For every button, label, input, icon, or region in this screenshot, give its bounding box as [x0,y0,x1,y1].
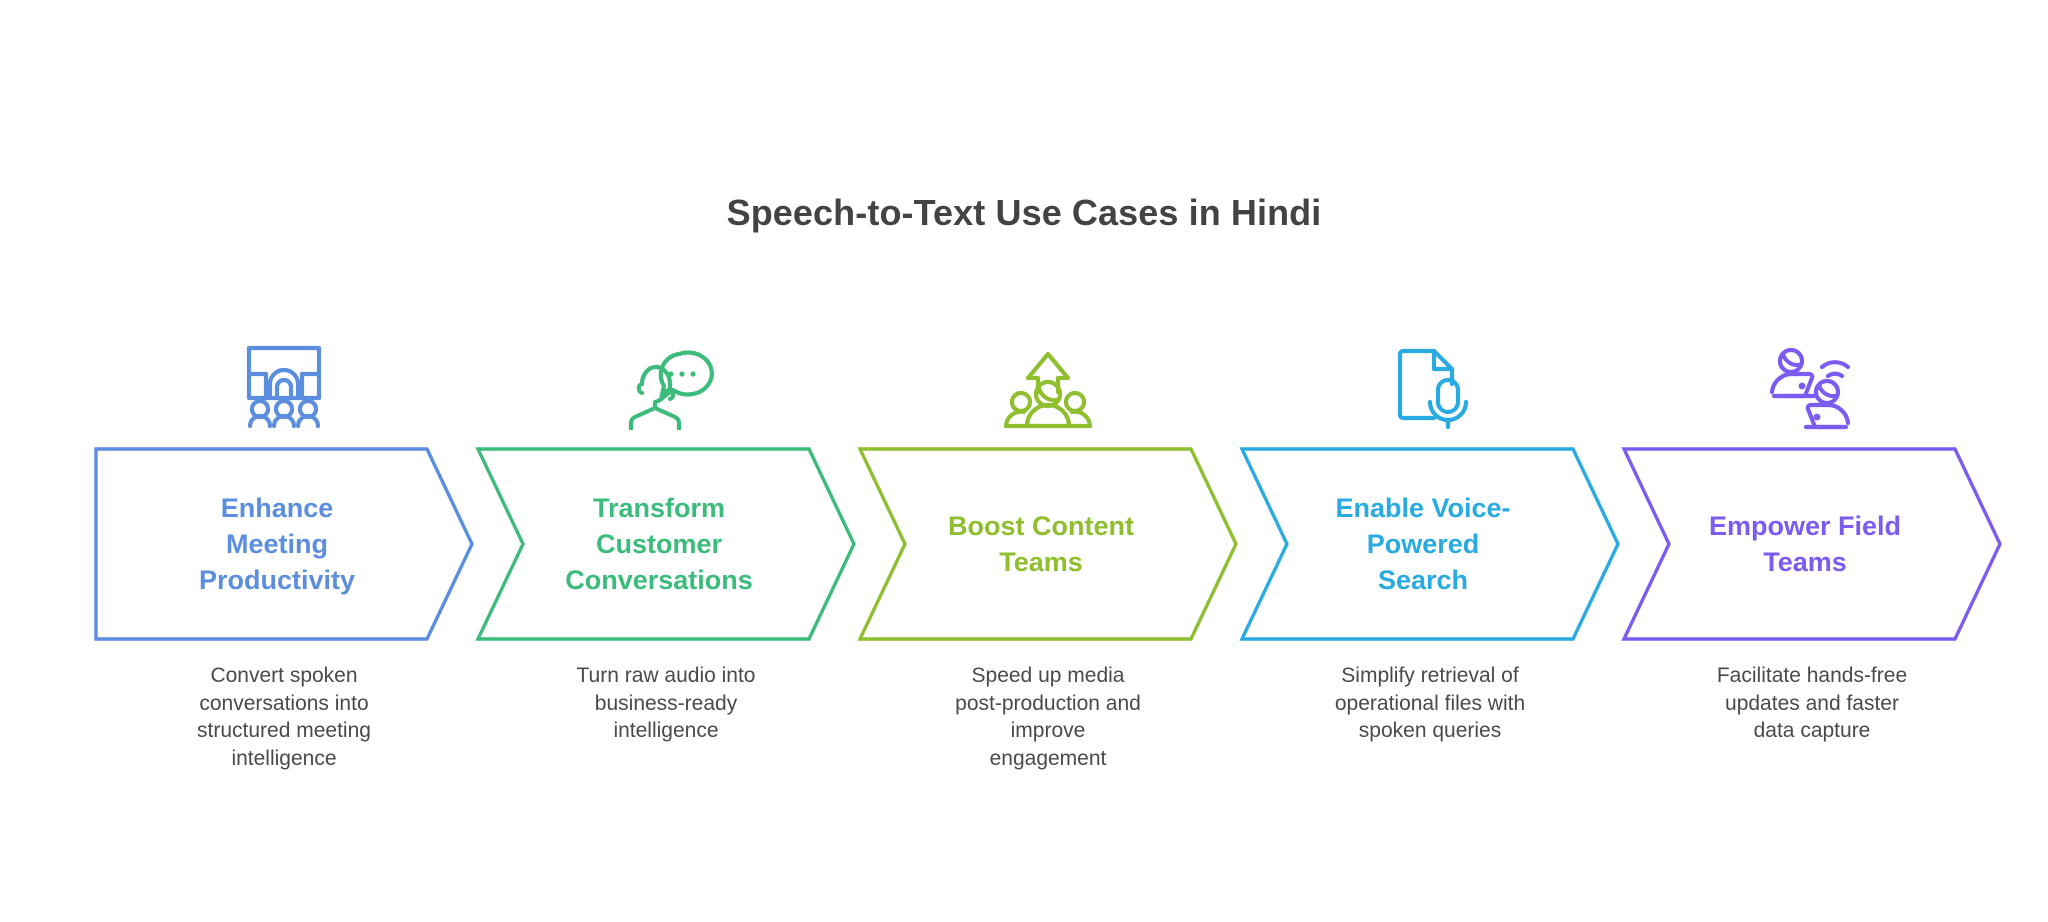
step-label-3: Boost Content Teams [876,447,1206,641]
process-step-1[interactable]: Enhance Meeting Productivity Convert spo… [94,310,474,830]
team-growth-arrow-icon [858,310,1238,430]
process-step-4[interactable]: Enable Voice- Powered Search Simplify re… [1240,310,1620,830]
step-label-5: Empower Field Teams [1640,447,1970,641]
page-title: Speech-to-Text Use Cases in Hindi [0,192,2048,234]
step-caption-4: Simplify retrieval of operational files … [1250,662,1610,745]
remote-workers-wifi-icon [1622,310,2002,430]
step-label-1: Enhance Meeting Productivity [112,447,442,641]
step-label-4: Enable Voice- Powered Search [1258,447,1588,641]
process-chevron-row: Enhance Meeting Productivity Convert spo… [94,310,1984,830]
meeting-room-people-icon [94,310,474,430]
process-step-3[interactable]: Boost Content Teams Speed up media post-… [858,310,1238,830]
step-caption-2: Turn raw audio into business-ready intel… [486,662,846,745]
step-caption-1: Convert spoken conversations into struct… [104,662,464,773]
step-label-2: Transform Customer Conversations [494,447,824,641]
process-step-5[interactable]: Empower Field Teams Facilitate hands-fre… [1622,310,2002,830]
person-speech-bubble-icon [476,310,856,430]
step-caption-3: Speed up media post-production and impro… [868,662,1228,773]
process-step-2[interactable]: Transform Customer Conversations Turn ra… [476,310,856,830]
document-microphone-icon [1240,310,1620,430]
step-caption-5: Facilitate hands-free updates and faster… [1632,662,1992,745]
speech-to-text-use-cases-infographic: Speech-to-Text Use Cases in Hindi [0,0,2048,922]
